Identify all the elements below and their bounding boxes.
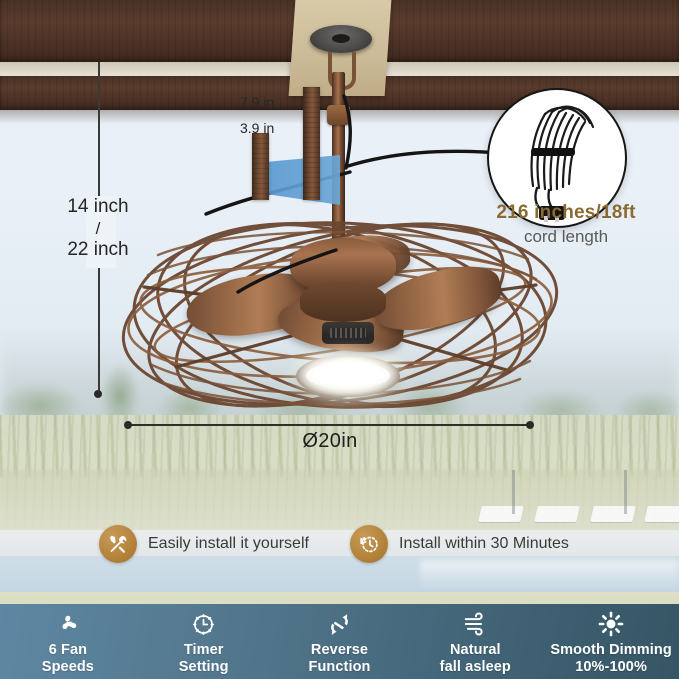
fan-icon — [55, 611, 81, 637]
spec-reverse-line2: Function — [308, 659, 370, 675]
feature-install-time: Install within 30 Minutes — [350, 525, 569, 563]
cord-length-caption: cord length — [476, 226, 656, 247]
spec-fan-speeds-label: 6 Fan Speeds — [42, 642, 94, 676]
fan-motor-lower — [300, 282, 386, 322]
downrod-sample-short — [252, 133, 269, 200]
cord-length-value: 216 inches/18ft — [476, 201, 656, 225]
spec-fan-speeds-line1: 6 Fan — [49, 642, 87, 658]
diameter-dimension-line — [128, 424, 530, 426]
height-dimension-endpoint — [94, 390, 102, 398]
spec-dimming-label: Smooth Dimming 10%-100% — [550, 642, 671, 676]
feature-easy-install: Easily install it yourself — [99, 525, 309, 563]
spec-bar: 6 Fan Speeds Timer Setting — [0, 604, 679, 679]
reverse-icon — [327, 611, 352, 637]
breeze-icon — [462, 611, 488, 637]
ceiling-mount-plate — [310, 25, 372, 53]
spec-natural-breeze-line1: Natural — [450, 642, 501, 658]
downrod-tall-label: 7.9 in — [240, 94, 274, 110]
height-dimension-label: 14 inch / 22 inch — [30, 196, 166, 261]
downrod-sample-tall — [303, 87, 320, 200]
downrod-collar — [327, 105, 350, 125]
spec-dimming-line2: 10%-100% — [575, 659, 647, 675]
height-value-max: 22 inch — [67, 239, 128, 260]
sun-icon — [598, 611, 624, 637]
timer-icon — [191, 611, 216, 637]
diameter-endpoint-right — [526, 421, 534, 429]
spec-fan-speeds: 6 Fan Speeds — [0, 604, 136, 676]
spec-dimming-line1: Smooth Dimming — [550, 642, 671, 658]
spec-timer: Timer Setting — [136, 604, 272, 676]
height-separator: / — [30, 219, 166, 239]
clock-arrow-icon — [350, 525, 388, 563]
spec-timer-line2: Setting — [179, 659, 229, 675]
feature-easy-install-label: Easily install it yourself — [148, 535, 309, 553]
spec-reverse-label: Reverse Function — [308, 642, 370, 676]
spec-dimming: Smooth Dimming 10%-100% — [543, 604, 679, 676]
diameter-endpoint-left — [124, 421, 132, 429]
wrench-screwdriver-icon — [99, 525, 137, 563]
spec-timer-line1: Timer — [184, 642, 224, 658]
spec-natural-breeze-label: Natural fall asleep — [440, 642, 511, 676]
led-light-lens — [306, 362, 390, 389]
cord-length-callout: 216 inches/18ft cord length — [476, 201, 656, 247]
diameter-label: Ø20in — [230, 430, 430, 453]
spec-timer-label: Timer Setting — [179, 642, 229, 676]
height-value-min: 14 inch — [67, 196, 128, 217]
spec-fan-speeds-line2: Speeds — [42, 659, 94, 675]
spec-reverse-line1: Reverse — [311, 642, 368, 658]
downrod-short-label: 3.9 in — [240, 120, 274, 136]
spec-reverse: Reverse Function — [272, 604, 408, 676]
spec-natural-breeze: Natural fall asleep — [407, 604, 543, 676]
feature-install-time-label: Install within 30 Minutes — [399, 535, 569, 553]
fan-switch-box — [322, 322, 374, 344]
install-feature-row: Easily install it yourself Install withi… — [0, 520, 679, 570]
product-infographic: 7.9 in 3.9 in 14 inch / 22 inch Ø20in — [0, 0, 679, 679]
spec-natural-breeze-line2: fall asleep — [440, 659, 511, 675]
